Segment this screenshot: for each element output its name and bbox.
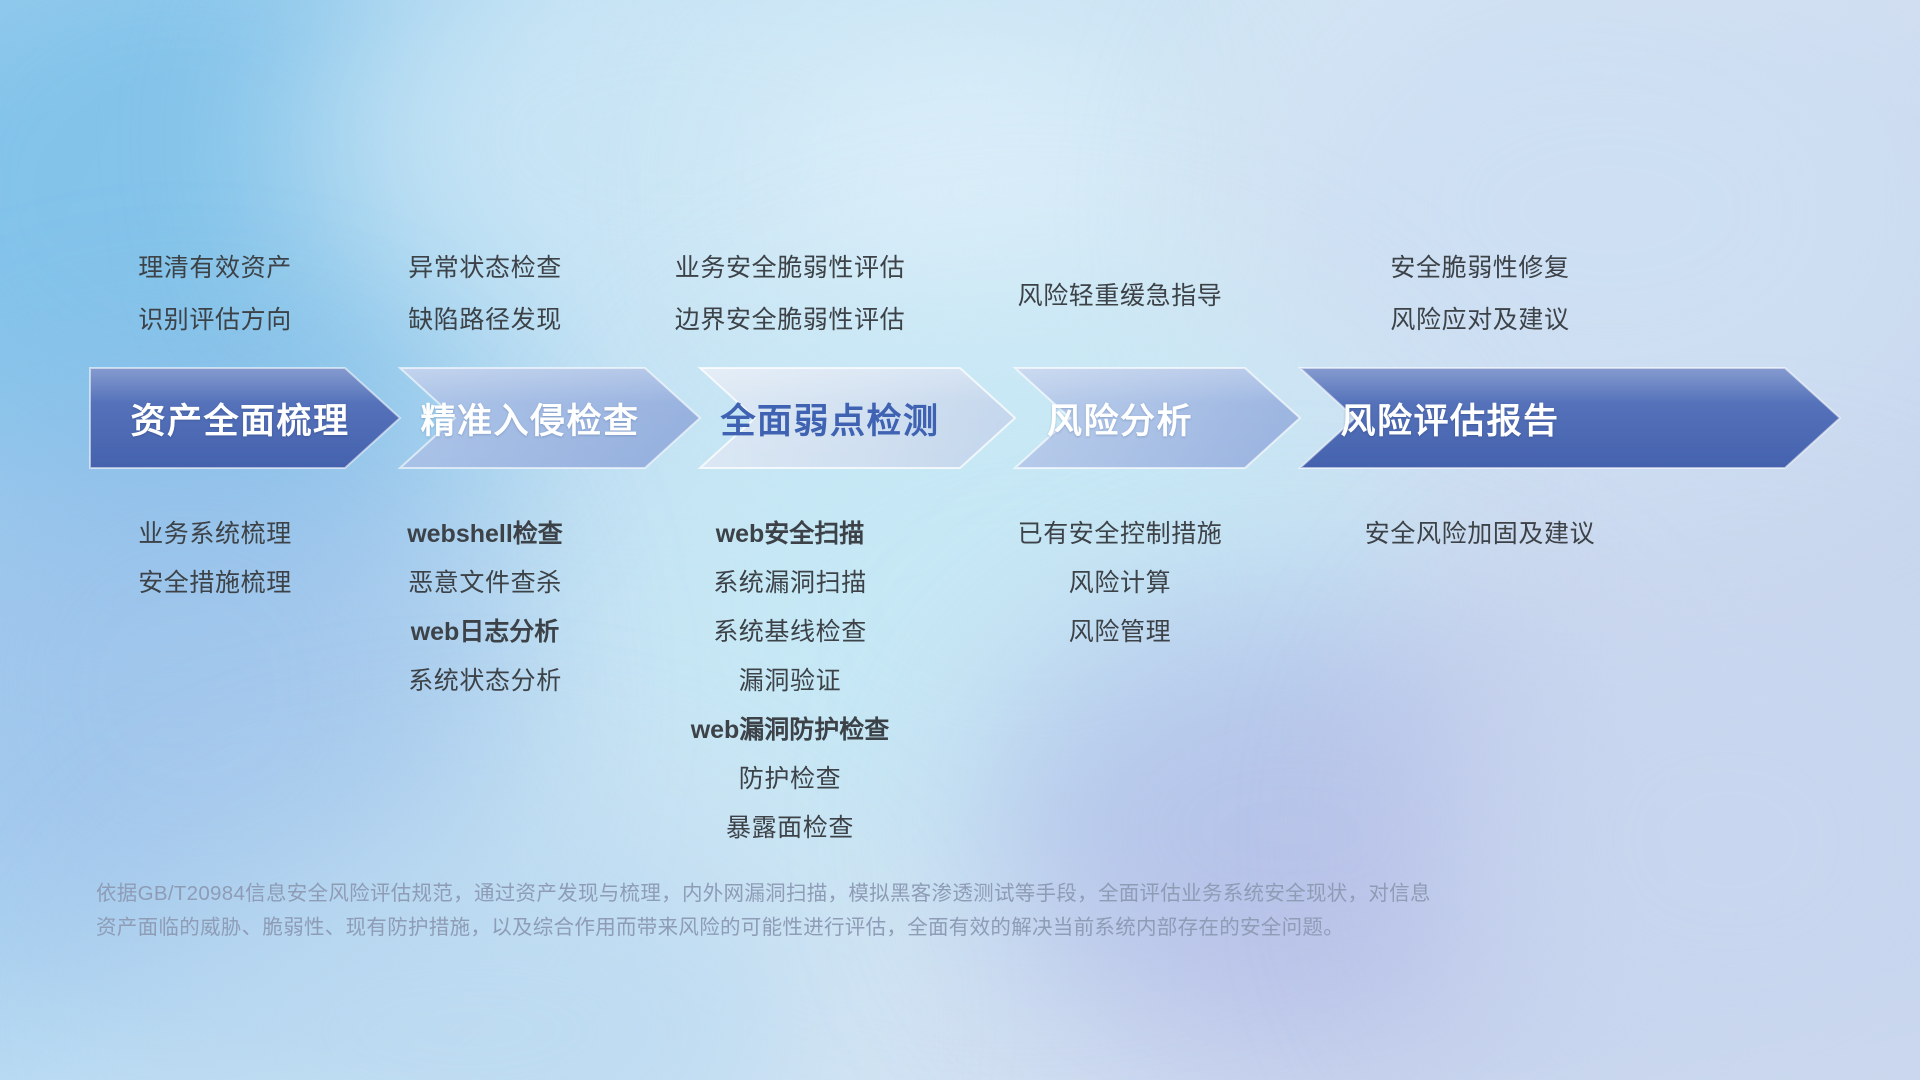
activity-item: web漏洞防护检查	[620, 706, 960, 755]
activity-item: webshell检查	[345, 510, 625, 559]
output-item: 边界安全脆弱性评估	[620, 294, 960, 346]
slide-canvas: 理清有效资产 识别评估方向 业务系统梳理 安全措施梳理 异常状态检查 缺陷路径发…	[0, 0, 1920, 1080]
chevron-label-intrusion-check[interactable]: 精准入侵检查	[380, 368, 680, 468]
output-item: 理清有效资产	[50, 242, 380, 294]
activities-below-list: webshell检查 恶意文件查杀 web日志分析 系统状态分析	[345, 510, 625, 706]
activity-item: 暴露面检查	[620, 804, 960, 853]
footnote-line: 资产面临的威胁、脆弱性、现有防护措施，以及综合作用而带来风险的可能性进行评估，全…	[96, 911, 1666, 945]
activity-item-label: web漏洞防护检查	[691, 716, 890, 744]
activity-item: 风险管理	[980, 608, 1260, 657]
output-item: 安全脆弱性修复	[1290, 242, 1670, 294]
activity-item: 恶意文件查杀	[345, 559, 625, 608]
activity-item: 业务系统梳理	[50, 510, 380, 559]
chevron-label-risk-report[interactable]: 风险评估报告	[1270, 368, 1630, 468]
activity-item-label: web安全扫描	[716, 520, 865, 548]
outputs-above-list: 理清有效资产 识别评估方向	[50, 242, 380, 346]
activity-item: 已有安全控制措施	[980, 510, 1260, 559]
outputs-above-list: 业务安全脆弱性评估 边界安全脆弱性评估	[620, 242, 960, 346]
activity-item: 系统基线检查	[620, 608, 960, 657]
activity-item: web日志分析	[345, 608, 625, 657]
output-item: 缺陷路径发现	[345, 294, 625, 346]
outputs-above-list: 异常状态检查 缺陷路径发现	[345, 242, 625, 346]
outputs-above-list: 安全脆弱性修复 风险应对及建议	[1290, 242, 1670, 346]
activity-item: 安全风险加固及建议	[1290, 510, 1670, 559]
output-item: 风险轻重缓急指导	[980, 270, 1260, 322]
footnote-line: 依据GB/T20984信息安全风险评估规范，通过资产发现与梳理，内外网漏洞扫描，…	[96, 877, 1666, 911]
activities-below-list: web安全扫描 系统漏洞扫描 系统基线检查 漏洞验证 web漏洞防护检查 防护检…	[620, 510, 960, 853]
activities-below-list: 业务系统梳理 安全措施梳理	[50, 510, 380, 608]
activity-item: 系统漏洞扫描	[620, 559, 960, 608]
output-item: 识别评估方向	[50, 294, 380, 346]
activity-item: 防护检查	[620, 755, 960, 804]
chevron-label-weakness-detection[interactable]: 全面弱点检测	[670, 368, 990, 468]
chevron-label-asset-inventory[interactable]: 资产全面梳理	[90, 368, 390, 468]
activity-item: 系统状态分析	[345, 657, 625, 706]
activities-below-list: 已有安全控制措施 风险计算 风险管理	[980, 510, 1260, 657]
footnote-paragraph: 依据GB/T20984信息安全风险评估规范，通过资产发现与梳理，内外网漏洞扫描，…	[96, 877, 1666, 945]
activities-below-list: 安全风险加固及建议	[1290, 510, 1670, 559]
activity-item: 安全措施梳理	[50, 559, 380, 608]
output-item: 业务安全脆弱性评估	[620, 242, 960, 294]
outputs-above-list: 风险轻重缓急指导	[980, 270, 1260, 322]
output-item: 异常状态检查	[345, 242, 625, 294]
activity-item-label: webshell检查	[407, 520, 563, 548]
output-item: 风险应对及建议	[1290, 294, 1670, 346]
activity-item: web安全扫描	[620, 510, 960, 559]
activity-item: 风险计算	[980, 559, 1260, 608]
activity-item-label: web日志分析	[411, 618, 560, 646]
chevron-label-risk-analysis[interactable]: 风险分析	[980, 368, 1260, 468]
activity-item: 漏洞验证	[620, 657, 960, 706]
